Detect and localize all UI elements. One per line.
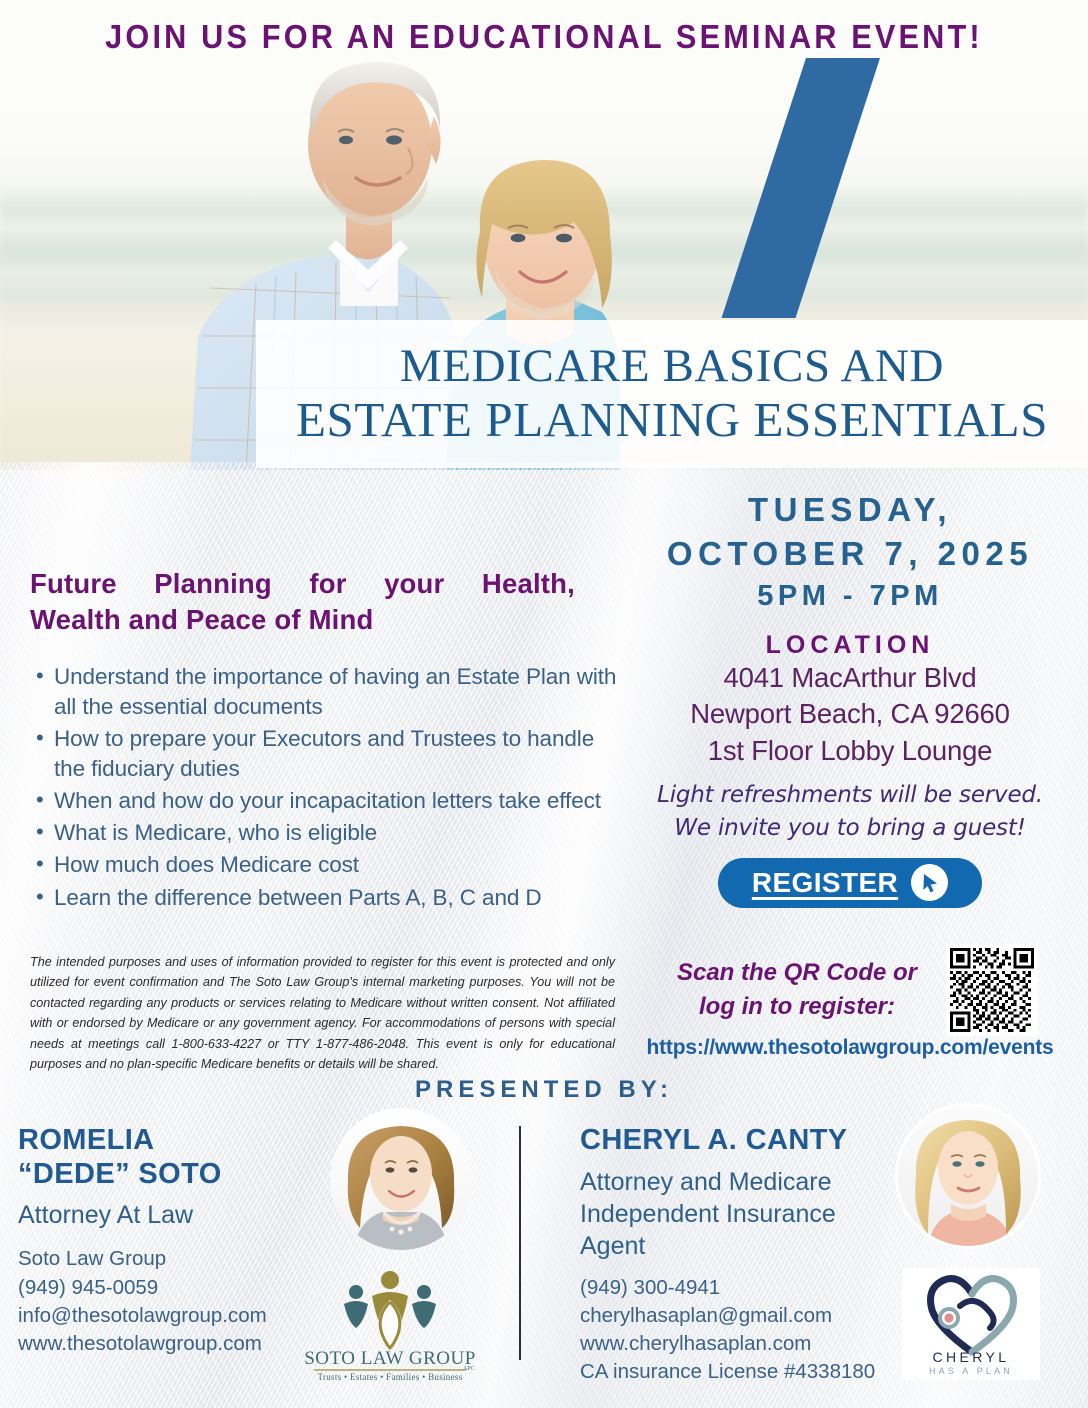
contact-email[interactable]: info@thesotolawgroup.com [18,1302,318,1330]
top-banner-text: JOIN US FOR AN EDUCATIONAL SEMINAR EVENT… [38,18,1050,56]
qr-instructions-line-1: Scan the QR Code or [662,956,932,990]
title-line-2: ESTATE PLANNING ESSENTIALS [296,393,1048,448]
left-content-column: Future Planning for your Health, Wealth … [30,566,620,915]
flyer-page: JOIN US FOR AN EDUCATIONAL SEMINAR EVENT… [0,0,1088,1408]
presented-by-label: PRESENTED BY: [0,1076,1088,1104]
logo-tagline: Trusts • Estates • Families • Business [317,1372,462,1382]
presenter-role: Attorney At Law [18,1199,318,1231]
refreshments-line-1: Light refreshments will be served. [612,779,1088,811]
romelia-soto-headshot [330,1108,472,1250]
refreshments-note: Light refreshments will be served. We in… [612,779,1088,843]
contact-phone[interactable]: (949) 300-4941 [580,1274,880,1302]
list-item: When and how do your incapacitation lett… [30,786,620,816]
presenter-name: CHERYL A. CANTY [580,1124,880,1158]
register-button[interactable]: REGISTER [718,858,982,908]
list-item: How much does Medicare cost [30,850,620,880]
logo-tagline: HAS A PLAN [929,1366,1013,1376]
contact-email[interactable]: cherylhasaplan@gmail.com [580,1302,880,1330]
disclaimer-text: The intended purposes and uses of inform… [30,952,615,1074]
qr-code[interactable] [946,944,1038,1036]
logo-name: CHERYL [933,1349,1010,1365]
event-date-line-1: TUESDAY, [612,488,1088,532]
avatar [898,1106,1038,1246]
event-date-line-2: OCTOBER 7, 2025 [612,532,1088,576]
location-line-3: 1st Floor Lobby Lounge [612,733,1088,770]
contact-firm: Soto Law Group [18,1245,318,1273]
qr-section: Scan the QR Code or log in to register: [612,944,1088,1036]
list-item: Understand the importance of having an E… [30,662,620,722]
cheryl-canty-headshot [898,1106,1038,1246]
avatar [330,1108,472,1250]
location-line-2: Newport Beach, CA 92660 [612,696,1088,733]
title-panel: MEDICARE BASICS AND ESTATE PLANNING ESSE… [256,320,1088,468]
presenter-name-line-1: ROMELIA [18,1124,318,1158]
qr-instructions-line-2: log in to register: [662,990,932,1024]
contact-website[interactable]: www.thesotolawgroup.com [18,1330,318,1358]
presenter-contact: Soto Law Group (949) 945-0059 info@theso… [18,1245,318,1358]
lede-line-2: Wealth and Peace of Mind [30,604,374,635]
contact-website[interactable]: www.cherylhasaplan.com [580,1330,880,1358]
topics-list: Understand the importance of having an E… [30,662,620,913]
cursor-arrow-icon [911,864,948,901]
presenter-divider [519,1126,521,1360]
list-item: Learn the difference between Parts A, B,… [30,883,620,913]
presenter-romelia-soto: ROMELIA “DEDE” SOTO Attorney At Law Soto… [18,1124,318,1358]
contact-license: CA insurance License #4338180 [580,1358,880,1386]
presenter-name-line-1: CHERYL A. CANTY [580,1124,880,1158]
presenter-role: Attorney and Medicare Independent Insura… [580,1166,880,1262]
presenter-contact: (949) 300-4941 cherylhasaplan@gmail.com … [580,1274,880,1387]
lede-line-1: Future Planning for your Health, [30,566,575,602]
logo-name: SOTO LAW GROUP [304,1348,476,1369]
list-item: What is Medicare, who is eligible [30,818,620,848]
title-line-1: MEDICARE BASICS AND [400,340,944,393]
presenter-name: ROMELIA “DEDE” SOTO [18,1124,318,1191]
event-details-column: TUESDAY, OCTOBER 7, 2025 5PM - 7PM LOCAT… [612,488,1088,908]
presenter-cheryl-canty: CHERYL A. CANTY Attorney and Medicare In… [580,1124,880,1387]
registration-url[interactable]: https://www.thesotolawgroup.com/events [612,1036,1088,1060]
lede-heading: Future Planning for your Health, Wealth … [30,566,620,639]
location-label: LOCATION [612,631,1088,660]
presenter-name-line-2: “DEDE” SOTO [18,1158,318,1192]
location-line-1: 4041 MacArthur Blvd [612,660,1088,697]
soto-law-group-logo: SOTO LAW GROUP APC Trusts • Estates • Fa… [300,1266,480,1384]
cheryl-has-a-plan-logo: CHERYL HAS A PLAN [902,1268,1040,1380]
contact-phone[interactable]: (949) 945-0059 [18,1274,318,1302]
refreshments-line-2: We invite you to bring a guest! [612,812,1088,844]
register-button-label: REGISTER [752,867,898,899]
logo-suffix: APC [463,1366,475,1372]
qr-instructions: Scan the QR Code or log in to register: [662,944,932,1024]
event-time: 5PM - 7PM [612,580,1088,613]
list-item: How to prepare your Executors and Truste… [30,724,620,784]
